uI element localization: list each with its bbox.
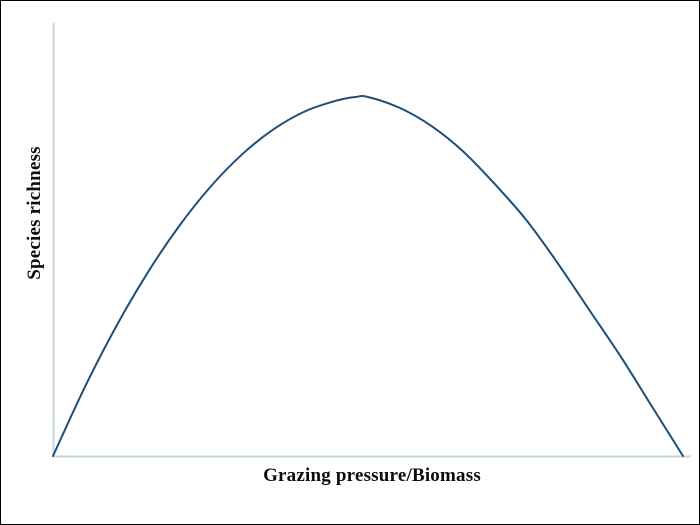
x-axis-title: Grazing pressure/Biomass xyxy=(53,465,691,487)
plot-area: Species richness Grazing pressure/Biomas… xyxy=(1,1,700,525)
species-richness-curve xyxy=(53,96,683,456)
figure-frame: Species richness Grazing pressure/Biomas… xyxy=(0,0,700,525)
chart-canvas xyxy=(1,1,700,525)
y-axis-title: Species richness xyxy=(18,63,52,363)
